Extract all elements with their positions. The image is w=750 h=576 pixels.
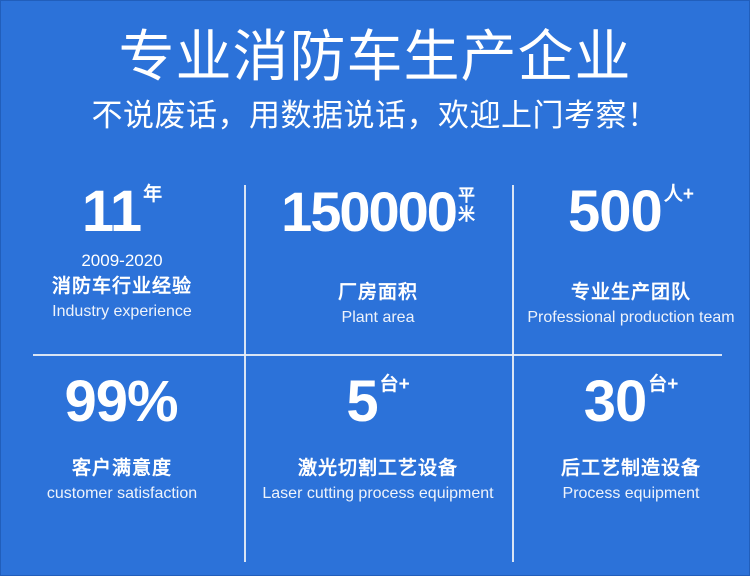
stat-cell-customer-satisfaction: 99% 客户满意度 customer satisfaction bbox=[0, 365, 244, 545]
stat-label-cn: 客户满意度 bbox=[72, 457, 172, 481]
stat-label-en: customer satisfaction bbox=[47, 484, 197, 504]
banner-subtitle: 不说废话，用数据说话，欢迎上门考察！ bbox=[0, 88, 750, 136]
stat-figure: 11 年 bbox=[82, 183, 162, 241]
stat-label-cn: 专业生产团队 bbox=[571, 281, 691, 305]
stat-label-en: Professional production team bbox=[527, 308, 734, 328]
stats-row-top: 11 年 2009-2020 消防车行业经验 Industry experien… bbox=[0, 175, 750, 355]
stat-unit bbox=[178, 373, 180, 375]
banner-title: 专业消防车生产企业 bbox=[0, 0, 750, 88]
stat-cell-laser-cutting-equipment: 5 台+ 激光切割工艺设备 Laser cutting process equi… bbox=[244, 365, 512, 545]
stat-unit: 平 米 bbox=[456, 183, 475, 224]
stat-unit-top: 平 bbox=[458, 186, 475, 205]
stat-cell-production-team: 500 人+ 专业生产团队 Professional production te… bbox=[512, 175, 750, 355]
stats-grid: 11 年 2009-2020 消防车行业经验 Industry experien… bbox=[0, 175, 750, 560]
stat-year-range: 2009-2020 bbox=[81, 251, 162, 271]
stat-unit: 台+ bbox=[646, 373, 678, 395]
stat-number: 500 bbox=[568, 183, 662, 241]
stat-label-cn: 激光切割工艺设备 bbox=[298, 457, 458, 481]
stat-figure: 500 人+ bbox=[568, 183, 694, 241]
banner-header: 专业消防车生产企业 不说废话，用数据说话，欢迎上门考察！ bbox=[0, 0, 750, 136]
stats-row-bottom: 99% 客户满意度 customer satisfaction 5 台+ 激光切… bbox=[0, 365, 750, 545]
stat-figure: 150000 平 米 bbox=[281, 183, 475, 241]
stat-figure: 5 台+ bbox=[346, 373, 409, 431]
stat-number: 30 bbox=[584, 373, 647, 431]
stat-figure: 30 台+ bbox=[584, 373, 679, 431]
stat-figure: 99% bbox=[64, 373, 179, 431]
stat-label-cn: 厂房面积 bbox=[338, 281, 418, 305]
stat-label-cn: 后工艺制造设备 bbox=[561, 457, 701, 481]
stat-label-en: Industry experience bbox=[52, 302, 192, 322]
stat-number: 11 bbox=[82, 183, 141, 241]
stat-label-en: Laser cutting process equipment bbox=[262, 484, 493, 504]
stat-unit: 台+ bbox=[378, 373, 410, 395]
stat-cell-process-equipment: 30 台+ 后工艺制造设备 Process equipment bbox=[512, 365, 750, 545]
stat-label-en: Plant area bbox=[342, 308, 415, 328]
stat-cell-industry-experience: 11 年 2009-2020 消防车行业经验 Industry experien… bbox=[0, 175, 244, 355]
stat-unit: 年 bbox=[141, 183, 162, 205]
stat-cell-plant-area: 150000 平 米 厂房面积 Plant area bbox=[244, 175, 512, 355]
stat-label-cn: 消防车行业经验 bbox=[52, 275, 192, 299]
stat-number: 150000 bbox=[281, 183, 456, 241]
stat-unit-bottom: 米 bbox=[458, 205, 475, 224]
stat-number: 99% bbox=[64, 373, 177, 431]
promo-banner: 专业消防车生产企业 不说废话，用数据说话，欢迎上门考察！ 11 年 2009-2… bbox=[0, 0, 750, 576]
stat-number: 5 bbox=[346, 373, 377, 431]
stat-unit: 人+ bbox=[662, 183, 694, 205]
stat-label-en: Process equipment bbox=[563, 484, 700, 504]
